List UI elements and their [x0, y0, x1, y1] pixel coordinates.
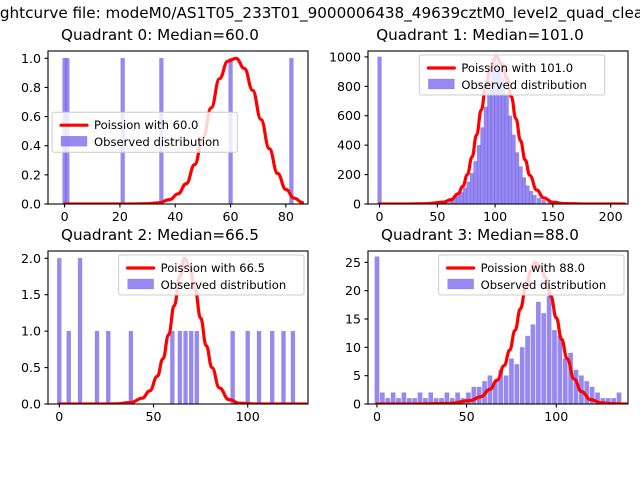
y-tick-label: 25: [345, 255, 361, 270]
subplot-quadrant-0: Quadrant 0: Median=60.0 0204060800.00.20…: [0, 26, 320, 240]
y-tick-label: 0.2: [21, 167, 41, 182]
x-tick-label: 80: [278, 209, 294, 224]
x-tick-label: 50: [145, 409, 161, 424]
y-tick-label: 2.0: [21, 251, 41, 266]
legend-quadrant-0: Poission with 60.0Observed distribution: [52, 112, 237, 152]
legend-label-poisson: Poission with 88.0: [481, 261, 585, 275]
figure-suptitle: Lightcurve file: modeM0/AS1T05_233T01_90…: [0, 4, 640, 22]
y-tick-label: 600: [337, 108, 361, 123]
legend-label-observed: Observed distribution: [94, 135, 220, 149]
y-tick-label: 400: [337, 138, 361, 153]
y-tick-label: 0: [353, 397, 361, 412]
x-tick-label: 100: [483, 209, 507, 224]
legend-quadrant-1: Poission with 101.0Observed distribution: [419, 55, 604, 95]
legend-label-observed: Observed distribution: [161, 278, 287, 292]
y-tick-label: 20: [345, 283, 361, 298]
x-tick-label: 200: [599, 209, 623, 224]
plot-area-quadrant-0: 0204060800.00.20.40.60.81.0Poission with…: [0, 26, 320, 240]
x-tick-label: 20: [112, 209, 128, 224]
plot-area-quadrant-3: 0501000510152025Poission with 88.0Observ…: [320, 226, 640, 440]
y-tick-label: 1.5: [21, 287, 41, 302]
x-tick-label: 100: [544, 409, 568, 424]
x-tick-label: 0: [55, 409, 63, 424]
subplot-quadrant-3: Quadrant 3: Median=88.0 0501000510152025…: [320, 226, 640, 440]
x-tick-label: 150: [541, 209, 565, 224]
x-tick-label: 50: [459, 409, 475, 424]
legend-label-poisson: Poission with 60.0: [94, 118, 198, 132]
y-tick-label: 1000: [329, 49, 361, 64]
subplot-quadrant-2: Quadrant 2: Median=66.5 0501000.00.51.01…: [0, 226, 320, 440]
y-tick-label: 1.0: [21, 324, 41, 339]
matplotlib-figure: Lightcurve file: modeM0/AS1T05_233T01_90…: [0, 0, 640, 480]
x-tick-label: 0: [376, 209, 384, 224]
y-tick-label: 800: [337, 79, 361, 94]
x-tick-label: 0: [61, 209, 69, 224]
x-tick-label: 0: [373, 409, 381, 424]
x-tick-label: 60: [223, 209, 239, 224]
y-tick-label: 10: [345, 340, 361, 355]
plot-area-quadrant-2: 0501000.00.51.01.52.0Poission with 66.5O…: [0, 226, 320, 440]
y-tick-label: 0.5: [21, 360, 41, 375]
legend-label-observed: Observed distribution: [481, 278, 607, 292]
y-tick-label: 0.6: [21, 109, 41, 124]
plot-area-quadrant-1: 05010015020002004006008001000Poission wi…: [320, 26, 640, 240]
legend-label-poisson: Poission with 66.5: [161, 261, 265, 275]
x-tick-label: 100: [236, 409, 260, 424]
y-tick-label: 200: [337, 167, 361, 182]
y-tick-label: 0.4: [21, 138, 41, 153]
legend-label-observed: Observed distribution: [461, 78, 587, 92]
y-tick-label: 15: [345, 312, 361, 327]
subplot-quadrant-1: Quadrant 1: Median=101.0 050100150200020…: [320, 26, 640, 240]
y-tick-label: 5: [353, 368, 361, 383]
legend-quadrant-3: Poission with 88.0Observed distribution: [439, 255, 624, 295]
y-tick-label: 0.0: [21, 397, 41, 412]
y-tick-label: 1.0: [21, 51, 41, 66]
y-tick-label: 0.0: [21, 197, 41, 212]
x-tick-label: 50: [429, 209, 445, 224]
y-tick-label: 0.8: [21, 80, 41, 95]
y-tick-label: 0: [353, 197, 361, 212]
legend-label-poisson: Poission with 101.0: [461, 61, 573, 75]
x-tick-label: 40: [167, 209, 183, 224]
legend-quadrant-2: Poission with 66.5Observed distribution: [119, 255, 304, 295]
